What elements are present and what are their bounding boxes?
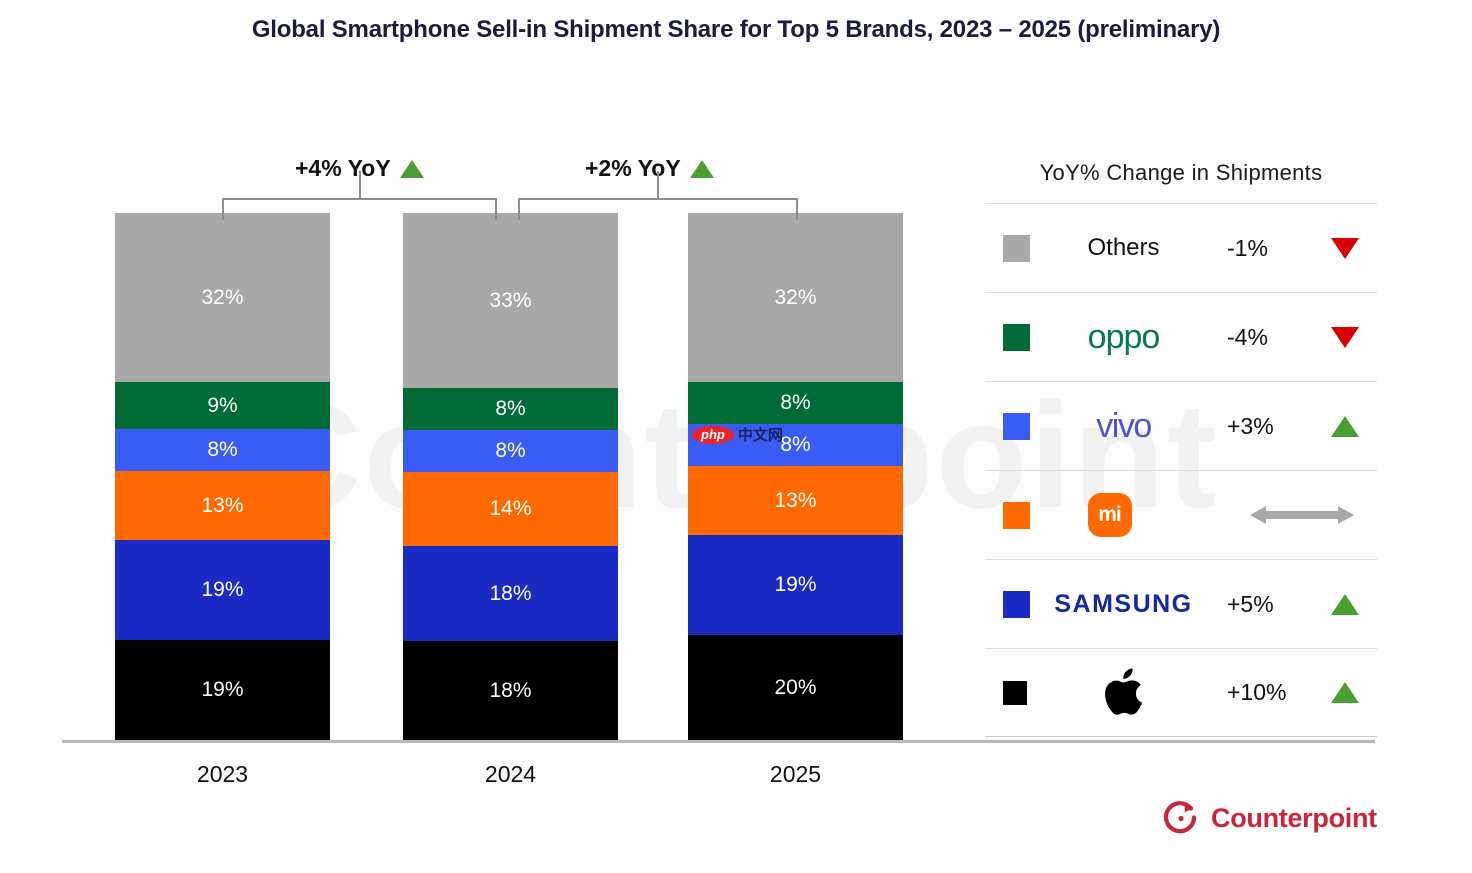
- triangle-up-icon: [1331, 594, 1359, 615]
- segment-apple-2025: 20%: [688, 635, 903, 740]
- segment-apple-2024: 18%: [403, 641, 618, 740]
- legend-swatch-others: [1003, 235, 1030, 262]
- bracket-stem-right: [657, 171, 659, 198]
- legend-direction-others: [1313, 238, 1377, 259]
- bar-2023[interactable]: 32% 9% 8% 13% 19% 19%: [115, 213, 330, 740]
- legend-brand-samsung: SAMSUNG: [1030, 590, 1227, 619]
- legend-brand-oppo: oppo: [1030, 318, 1227, 357]
- legend-direction-vivo: [1313, 416, 1377, 437]
- page-title: Global Smartphone Sell-in Shipment Share…: [0, 16, 1472, 44]
- triangle-down-icon: [1331, 327, 1359, 348]
- x-axis-line: [62, 740, 1375, 743]
- legend-change-samsung: +5%: [1227, 591, 1313, 618]
- counterpoint-logo: Counterpoint: [1163, 800, 1377, 836]
- legend-swatch-apple: [1003, 681, 1027, 705]
- legend-direction-apple: [1313, 682, 1377, 703]
- legend-brand-apple: [1027, 668, 1227, 718]
- legend-swatch-xiaomi: [1003, 502, 1030, 529]
- legend-brand-others: Others: [1030, 234, 1227, 262]
- triangle-up-icon: [690, 160, 714, 178]
- counterpoint-wordmark: Counterpoint: [1211, 803, 1377, 834]
- segment-vivo-2024: 8%: [403, 430, 618, 472]
- triangle-up-icon: [1331, 416, 1359, 437]
- legend-row-xiaomi[interactable]: mi: [985, 470, 1377, 559]
- legend-row-apple[interactable]: +10%: [985, 648, 1377, 737]
- triangle-down-icon: [1331, 238, 1359, 259]
- legend-change-oppo: -4%: [1227, 324, 1313, 351]
- segment-others-2023: 32%: [115, 213, 330, 382]
- counterpoint-swirl-icon: [1163, 800, 1199, 836]
- segment-xiaomi-2024: 14%: [403, 472, 618, 546]
- legend-row-others[interactable]: Others -1%: [985, 203, 1377, 292]
- segment-samsung-2024: 18%: [403, 546, 618, 641]
- php-watermark-text: 中文网: [738, 424, 783, 445]
- x-tick-2024: 2024: [403, 761, 618, 788]
- vivo-logo: vivo: [1096, 407, 1150, 446]
- yoy-label-text: +4% YoY: [295, 155, 391, 182]
- legend-panel: YoY% Change in Shipments Others -1% oppo…: [985, 160, 1377, 737]
- bar-2024[interactable]: 33% 8% 8% 14% 18% 18%: [403, 213, 618, 740]
- segment-others-2025: 32%: [688, 213, 903, 382]
- bar-2025[interactable]: 32% 8% 8% 13% 19% 20%: [688, 213, 903, 740]
- bracket-left: [222, 198, 497, 220]
- php-badge: php: [692, 426, 734, 444]
- segment-samsung-2023: 19%: [115, 540, 330, 640]
- legend-swatch-samsung: [1003, 591, 1030, 618]
- legend-row-oppo[interactable]: oppo -4%: [985, 292, 1377, 381]
- x-tick-2025: 2025: [688, 761, 903, 788]
- segment-xiaomi-2023: 13%: [115, 471, 330, 540]
- legend-swatch-oppo: [1003, 324, 1030, 351]
- legend-direction-oppo: [1313, 327, 1377, 348]
- segment-others-2024: 33%: [403, 213, 618, 388]
- oppo-logo: oppo: [1088, 318, 1160, 357]
- segment-oppo-2023: 9%: [115, 382, 330, 429]
- legend-change-vivo: +3%: [1227, 413, 1313, 440]
- yoy-label-text: +2% YoY: [585, 155, 681, 182]
- triangle-up-icon: [1331, 682, 1359, 703]
- apple-logo-icon: [1101, 668, 1143, 718]
- legend-brand-label: Others: [1087, 234, 1159, 262]
- php-watermark: php 中文网: [692, 424, 783, 445]
- legend-swatch-vivo: [1003, 413, 1030, 440]
- segment-xiaomi-2025: 13%: [688, 466, 903, 535]
- segment-vivo-2023: 8%: [115, 429, 330, 471]
- segment-oppo-2025: 8%: [688, 382, 903, 424]
- triangle-up-icon: [400, 160, 424, 178]
- segment-apple-2023: 19%: [115, 640, 330, 740]
- legend-change-apple: +10%: [1227, 679, 1313, 706]
- segment-oppo-2024: 8%: [403, 388, 618, 430]
- legend-brand-xiaomi: mi: [1030, 493, 1199, 537]
- legend-direction-samsung: [1313, 594, 1377, 615]
- samsung-logo: SAMSUNG: [1054, 590, 1192, 619]
- legend-change-others: -1%: [1227, 235, 1313, 262]
- legend-heading: YoY% Change in Shipments: [985, 160, 1377, 203]
- legend-row-vivo[interactable]: vivo +3%: [985, 381, 1377, 470]
- double-arrow-flat-icon: [1250, 504, 1354, 526]
- bracket-stem-left: [359, 171, 361, 198]
- legend-row-samsung[interactable]: SAMSUNG +5%: [985, 559, 1377, 648]
- legend-brand-vivo: vivo: [1030, 407, 1227, 446]
- xiaomi-mi-logo: mi: [1088, 493, 1132, 537]
- x-tick-2023: 2023: [115, 761, 330, 788]
- segment-samsung-2025: 19%: [688, 535, 903, 635]
- legend-direction-xiaomi: [1227, 504, 1377, 526]
- bracket-right: [518, 198, 798, 220]
